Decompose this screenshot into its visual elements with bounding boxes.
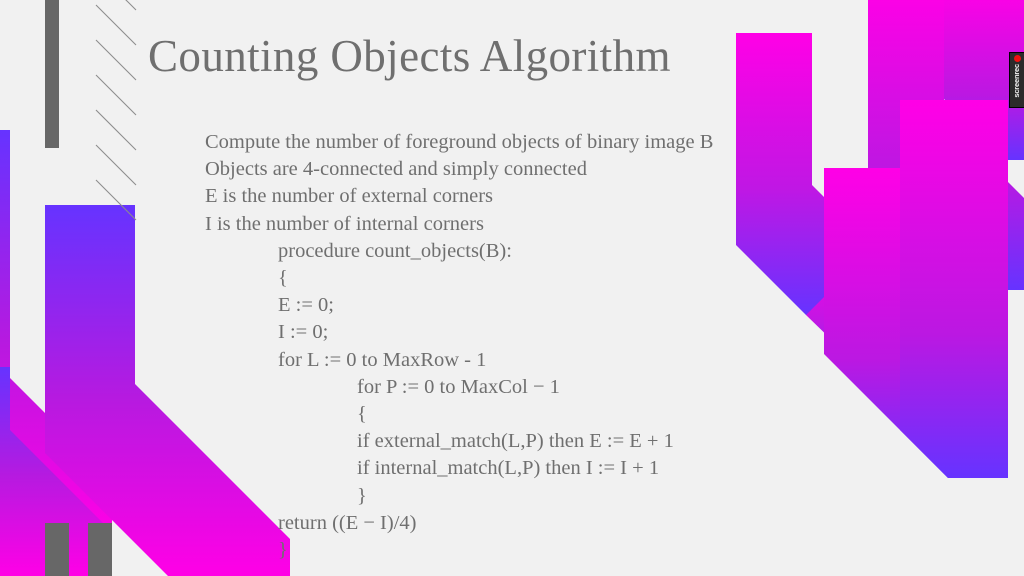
body-line: I is the number of internal corners [205, 211, 905, 238]
body-line: Objects are 4-connected and simply conne… [205, 156, 905, 183]
slide-body: Compute the number of foreground objects… [205, 129, 905, 564]
slide-canvas: Counting Objects Algorithm Compute the n… [0, 0, 1024, 576]
recording-indicator-icon [1014, 55, 1021, 62]
body-line: } [205, 537, 905, 564]
body-line: E := 0; [205, 292, 905, 319]
decor-grey-bar-bottom-right [88, 523, 112, 576]
screenrec-badge[interactable]: screenrec [1009, 52, 1024, 108]
body-line: if external_match(L,P) then E := E + 1 [205, 428, 905, 455]
body-line: if internal_match(L,P) then I := I + 1 [205, 455, 905, 482]
body-line: { [205, 265, 905, 292]
body-line: for P := 0 to MaxCol − 1 [205, 374, 905, 401]
body-line: E is the number of external corners [205, 183, 905, 210]
body-line: procedure count_objects(B): [205, 238, 905, 265]
decor-grey-bar-top [45, 0, 59, 148]
decor-band-left-outer [0, 130, 112, 535]
body-line: I := 0; [205, 319, 905, 346]
body-line: { [205, 401, 905, 428]
body-line: Compute the number of foreground objects… [205, 129, 905, 156]
decor-hatch-lines [96, 0, 136, 220]
body-line: for L := 0 to MaxRow - 1 [205, 347, 905, 374]
page-title: Counting Objects Algorithm [148, 30, 671, 82]
decor-grey-bar-bottom-left [45, 523, 69, 576]
body-line: } [205, 483, 905, 510]
screenrec-label: screenrec [1013, 64, 1021, 98]
body-line: return ((E − I)/4) [205, 510, 905, 537]
